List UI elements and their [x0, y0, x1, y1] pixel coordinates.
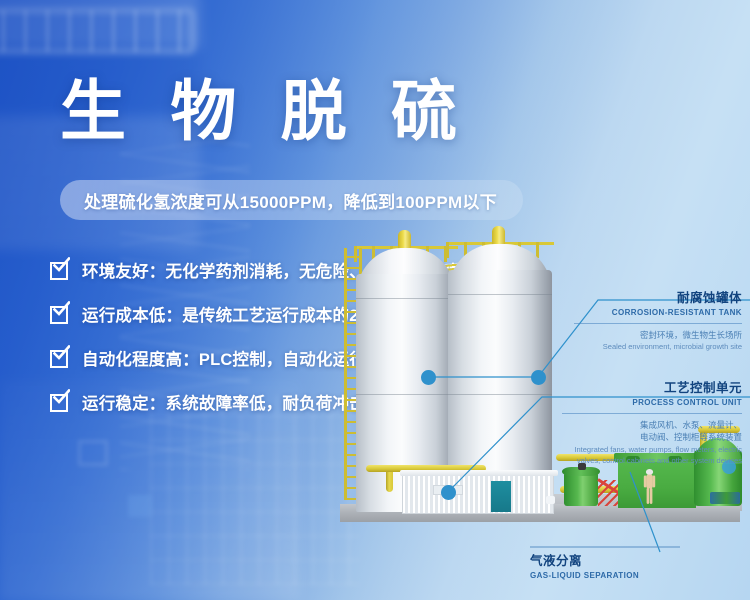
callout-corrosion-resistant-tank: 耐腐蚀罐体 CORROSION-RESISTANT TANK 密封环境，微生物生… [542, 287, 742, 353]
callout-en-desc-line2: valves, control cabinets and other syste… [530, 456, 742, 467]
checkbox-check-icon [50, 348, 71, 369]
callout-en-desc-line1: Integrated fans, water pumps, flow meter… [530, 445, 742, 456]
callout-divider [562, 413, 742, 414]
callout-cn-title: 耐腐蚀罐体 [542, 287, 742, 306]
checkbox-check-icon [50, 260, 71, 281]
checkbox-check-icon [50, 392, 71, 413]
page-title: 生 物 脱 硫 [60, 78, 470, 144]
callout-gas-liquid-rule [530, 541, 710, 555]
marker-control-unit [441, 485, 456, 500]
callout-en-title: CORROSION-RESISTANT TANK [542, 308, 742, 317]
leader-line-separation [630, 472, 660, 552]
callout-en-title: GAS-LIQUID SEPARATION [530, 571, 690, 580]
checkbox-check-icon [50, 304, 71, 325]
callout-en-desc: Sealed environment, microbial growth sit… [542, 342, 742, 353]
callout-process-control-unit: 工艺控制单元 PROCESS CONTROL UNIT 集成风机、水泵、流量计、… [530, 377, 742, 467]
callout-cn-desc-line2: 电动阀、控制柜等系统装置 [530, 431, 742, 443]
callout-cn-desc: 密封环境，微生物生长场所 [542, 329, 742, 341]
callout-cn-desc-line1: 集成风机、水泵、流量计、 [530, 419, 742, 431]
callout-divider [574, 323, 742, 324]
marker-tank-a [421, 370, 436, 385]
callout-cn-title: 工艺控制单元 [530, 377, 742, 396]
subtitle-banner: 处理硫化氢浓度可从15000PPM，降低到100PPM以下 [60, 180, 523, 220]
subtitle-text: 处理硫化氢浓度可从15000PPM，降低到100PPM以下 [84, 188, 497, 213]
poster-canvas: 生 物 脱 硫 处理硫化氢浓度可从15000PPM，降低到100PPM以下 环境… [0, 0, 750, 600]
callout-en-title: PROCESS CONTROL UNIT [530, 398, 742, 407]
